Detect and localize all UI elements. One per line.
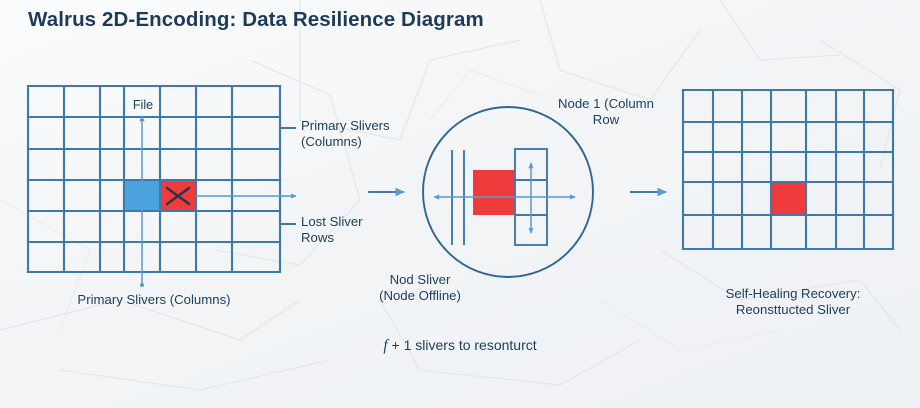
formula-rest: + 1 slivers to resonturct xyxy=(388,337,537,353)
right-grid-recovered-cell[interactable] xyxy=(771,182,806,215)
node-label: Node 1 (ColumnRow xyxy=(533,96,679,128)
middle-node-circle[interactable] xyxy=(423,107,593,277)
right-grid-caption-line1: Self-Healing Recovery: xyxy=(726,286,861,301)
node-red-block[interactable] xyxy=(473,170,515,215)
file-label: File xyxy=(126,97,160,113)
node-caption-line1: Nod Sliver xyxy=(390,272,451,287)
right-grid-caption: Self-Healing Recovery:Reonsttucted Slive… xyxy=(693,286,893,318)
left-grid[interactable] xyxy=(28,86,296,287)
lost-sliver-callout-line2: Rows xyxy=(301,230,334,245)
node-label-line1: Node 1 (Column xyxy=(558,96,654,111)
footer-formula: f + 1 slivers to resonturct xyxy=(0,337,920,355)
lost-sliver-callout-label: Lost SliverRows xyxy=(301,214,421,246)
page-title: Walrus 2D-Encoding: Data Resilience Diag… xyxy=(28,8,484,32)
right-grid[interactable] xyxy=(683,90,893,249)
lost-sliver-callout-line1: Lost Sliver xyxy=(301,214,363,229)
node-label-line2: Row xyxy=(593,112,619,127)
callout-leaders xyxy=(281,128,296,224)
primary-slivers-callout-line1: Primary Slivers xyxy=(301,118,390,133)
primary-slivers-callout-line2: (Columns) xyxy=(301,134,362,149)
diagram-canvas: Walrus 2D-Encoding: Data Resilience Diag… xyxy=(0,0,920,408)
left-grid-caption: Primary Slivers (Columns) xyxy=(28,292,280,308)
node-caption-line2: (Node Offline) xyxy=(379,288,461,303)
node-caption: Nod Sliver(Node Offline) xyxy=(350,272,490,304)
primary-slivers-callout-label: Primary Slivers(Columns) xyxy=(301,118,421,150)
right-grid-caption-line2: Reonsttucted Sliver xyxy=(736,302,850,317)
